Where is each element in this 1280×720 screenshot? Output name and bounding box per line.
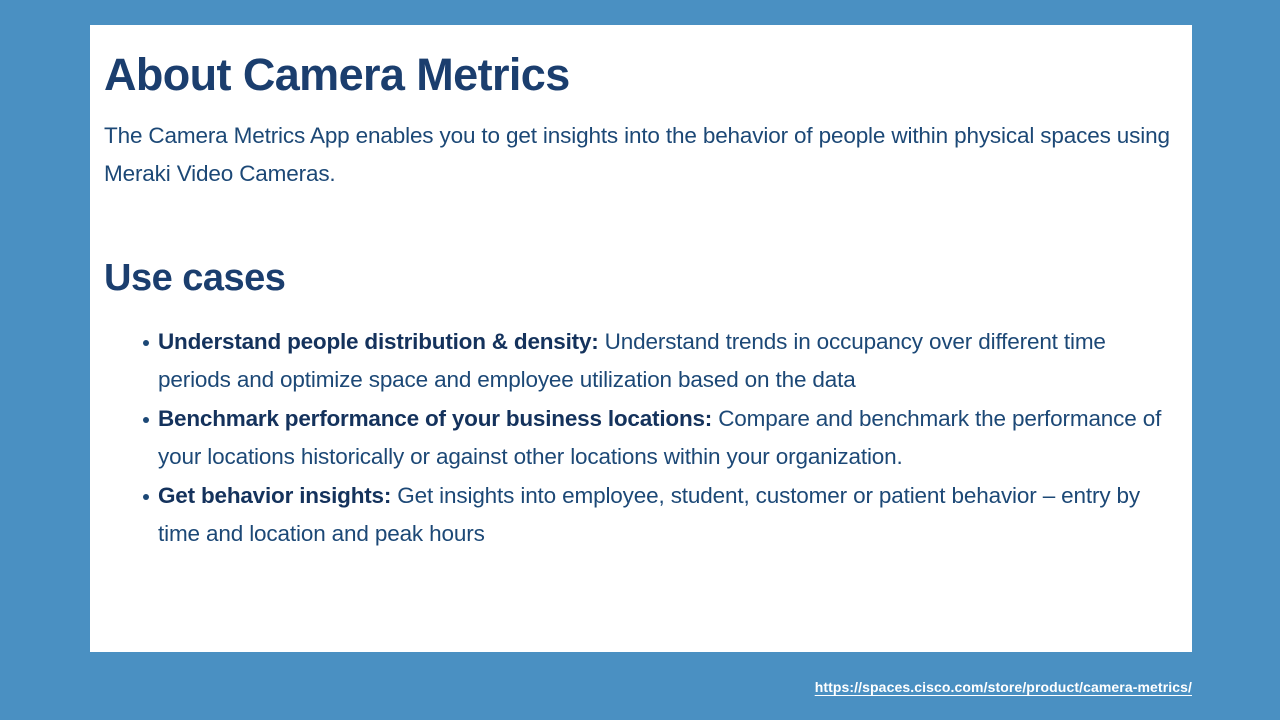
use-cases-heading: Use cases <box>104 193 1166 301</box>
bullet-dot-icon <box>143 494 149 500</box>
intro-paragraph: The Camera Metrics App enables you to ge… <box>104 102 1179 193</box>
slide-canvas: About Camera Metrics The Camera Metrics … <box>0 0 1280 720</box>
card-inner: About Camera Metrics The Camera Metrics … <box>104 39 1166 553</box>
bullet-dot-icon <box>143 340 149 346</box>
list-item-lead: Get behavior insights: <box>158 483 391 508</box>
list-item: Get behavior insights: Get insights into… <box>104 477 1166 554</box>
content-card: About Camera Metrics The Camera Metrics … <box>90 25 1192 652</box>
use-cases-list: Understand people distribution & density… <box>104 301 1166 553</box>
list-item: Understand people distribution & density… <box>104 323 1166 400</box>
source-url-link[interactable]: https://spaces.cisco.com/store/product/c… <box>815 678 1192 696</box>
list-item: Benchmark performance of your business l… <box>104 400 1166 477</box>
bullet-dot-icon <box>143 417 149 423</box>
list-item-lead: Benchmark performance of your business l… <box>158 406 712 431</box>
page-title: About Camera Metrics <box>104 39 1166 102</box>
list-item-lead: Understand people distribution & density… <box>158 329 599 354</box>
